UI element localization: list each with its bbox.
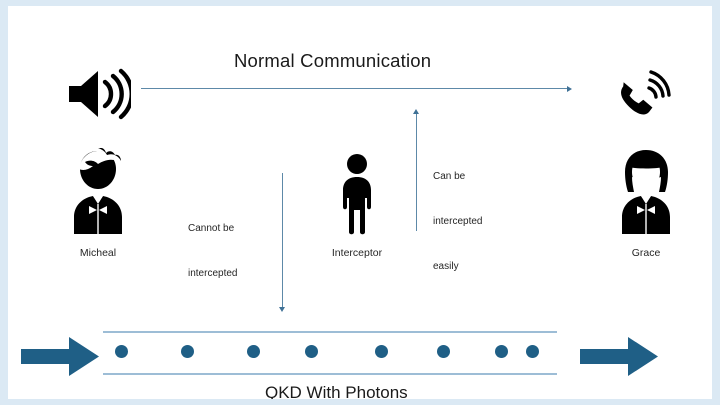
- phone-ringing-icon: [615, 70, 671, 122]
- annotation-line-3: easily: [433, 259, 482, 274]
- intercept-easy-arrowhead: [413, 109, 419, 114]
- annotation-line-1: Can be: [433, 169, 482, 184]
- normal-communication-arrowhead: [567, 86, 572, 92]
- photon-flow-arrow-left: [21, 337, 99, 376]
- person-standing-icon: [333, 154, 381, 236]
- annotation-cannot-be-intercepted: Cannot be intercepted: [188, 191, 237, 311]
- photon-dot: [181, 345, 194, 358]
- annotation-line-1: Cannot be: [188, 221, 237, 236]
- qkd-channel-rail-bottom: [103, 373, 557, 375]
- actor-label-receiver: Grace: [596, 246, 696, 260]
- photon-dot: [437, 345, 450, 358]
- annotation-can-be-intercepted: Can be intercepted easily: [433, 139, 482, 304]
- photon-dot: [115, 345, 128, 358]
- qkd-channel-rail-top: [103, 331, 557, 333]
- photon-dot: [375, 345, 388, 358]
- person-man-suit-icon: [64, 148, 132, 234]
- photon-dot: [495, 345, 508, 358]
- cannot-intercept-arrowhead: [279, 307, 285, 312]
- actor-label-sender: Micheal: [48, 246, 148, 260]
- photon-dot: [247, 345, 260, 358]
- photon-flow-arrow-right: [580, 337, 658, 376]
- speaker-sound-icon: [65, 68, 131, 120]
- person-woman-suit-icon: [612, 148, 680, 234]
- normal-communication-line: [141, 88, 568, 89]
- actor-label-interceptor: Interceptor: [307, 246, 407, 260]
- intercept-easy-line: [416, 114, 417, 231]
- photon-dot: [526, 345, 539, 358]
- top-title: Normal Communication: [234, 49, 431, 74]
- photon-dot: [305, 345, 318, 358]
- bottom-title: QKD With Photons: [265, 382, 408, 399]
- cannot-intercept-line: [282, 173, 283, 308]
- annotation-line-2: intercepted: [188, 266, 237, 281]
- slide-canvas: Normal Communication Can be intercepted …: [8, 6, 712, 399]
- annotation-line-2: intercepted: [433, 214, 482, 229]
